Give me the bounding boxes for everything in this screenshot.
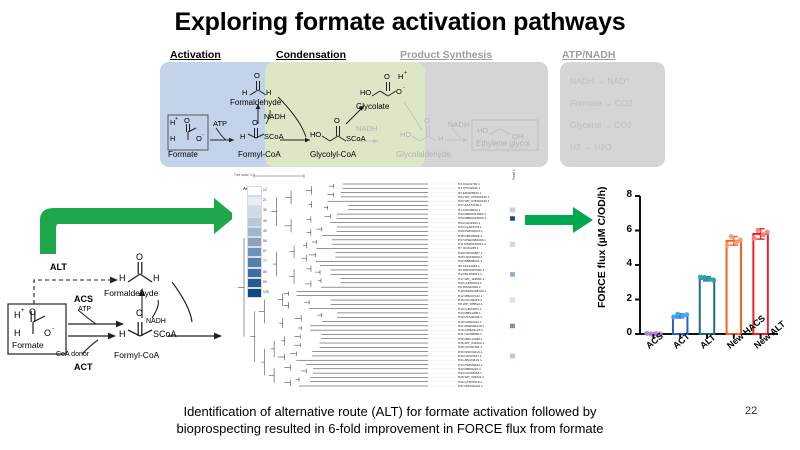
formyl-h: H [240, 132, 245, 141]
formate-o: O [184, 116, 190, 125]
glycolyl-coa-label: Glycolyl-CoA [310, 150, 356, 159]
chart-data-point [738, 237, 743, 242]
chart-bar [700, 279, 714, 334]
mech-formate-label: Formate [12, 340, 44, 350]
section-header-product-synthesis: Product Synthesis [400, 49, 492, 61]
tree-activity-cell [510, 354, 515, 359]
activity-legend-tick: 58 [263, 239, 267, 243]
glycolaldehyde-ho: HO [400, 130, 411, 139]
formate-h: H [170, 134, 175, 143]
glycolate-label: Glycolate [356, 102, 389, 111]
activity-legend-tick: 21 [263, 198, 267, 202]
activity-legend-tick: 95 [263, 280, 267, 284]
activity-legend-tick: 30 [263, 208, 267, 212]
mech-formate-h: H [14, 328, 21, 338]
activity-legend-tick: 77 [263, 259, 267, 263]
atp-reaction-1: Formate → CO2 [570, 98, 632, 108]
formate-ominus: O [196, 134, 202, 143]
activity-legend-swatch: 105 [247, 288, 262, 298]
green-arrow-to-chart [525, 205, 595, 235]
mech-formaldehyde-h-left: H [119, 273, 126, 283]
atp-reaction-3: H2 → H2O [570, 142, 612, 152]
chart-data-point [644, 331, 649, 336]
chart-data-point [684, 312, 689, 317]
activity-legend-swatch: 30 [247, 206, 262, 216]
glycolaldehyde-h: H [438, 134, 443, 143]
formaldehyde-label: Formaldehyde [230, 98, 281, 107]
acs-label: ACS [74, 294, 93, 304]
tree-activity-cell [510, 298, 515, 303]
activity-legend-tick: 49 [263, 229, 267, 233]
tree-scale-label: Tree scale: 0.1 [234, 173, 255, 177]
formyl-o: O [252, 118, 258, 127]
mech-formate-hplus-charge: + [21, 308, 25, 314]
formate-label: Formate [168, 150, 198, 159]
chart-data-point [711, 278, 716, 283]
glycolaldehyde-o: O [424, 116, 430, 125]
activity-legend: 12213040495867778695105 [247, 186, 260, 298]
section-header-activation: Activation [170, 49, 221, 61]
activity-legend-swatch: 12 [247, 186, 262, 196]
mech-formyl-coa-label: Formyl-CoA [114, 350, 159, 360]
activity-legend-tick: 67 [263, 249, 267, 253]
activity-legend-swatch: 21 [247, 196, 262, 206]
chart-y-tick-label: 6 [618, 224, 632, 235]
glycolyl-scoa: SCoA [346, 134, 366, 143]
activity-legend-tick: 105 [263, 290, 269, 294]
alt-label: ALT [50, 262, 67, 272]
formyl-coa-label: Formyl-CoA [238, 150, 281, 159]
mech-formate-o: O [29, 307, 36, 317]
glycolate-ominus: O [396, 87, 402, 96]
mechanism-nadh: NADH [146, 318, 166, 325]
mech-formyl-scoa: SCoA [153, 329, 177, 339]
phylogenetic-tree: H3 KSL01791.1H4 QTV02011.1H2 EDW65524.1H… [232, 172, 522, 394]
chart-y-tick-label: 4 [618, 258, 632, 269]
slide-title: Exploring formate activation pathways [0, 8, 800, 37]
chart-data-point [725, 243, 730, 248]
formaldehyde-h-left: H [242, 88, 247, 97]
force-flux-bar-chart: FORCE flux (µM C/OD/h) 02468ACSACTALTNew… [598, 186, 794, 386]
formaldehyde-o: O [254, 71, 260, 80]
glycolate-ominus-charge: - [403, 85, 405, 91]
section-header-condensation: Condensation [276, 49, 346, 61]
glycolaldehyde-label: Glycolaldehyde [396, 150, 451, 159]
caption-line-2: bioprospecting resulted in 6-fold improv… [60, 420, 720, 437]
ethylene-glycol-label: Ethylene glycol [476, 139, 530, 148]
atp-reaction-2: Glycerol → CO2 [570, 120, 632, 130]
tree-activity-cell [510, 324, 515, 329]
chart-data-point [765, 230, 770, 235]
atp-label: ATP [213, 119, 227, 128]
mech-formaldehyde-label: Formaldehyde [104, 288, 158, 298]
mech-formaldehyde-h-right: H [153, 273, 160, 283]
chart-y-tick-label: 8 [618, 189, 632, 200]
tree-activity-cell [510, 216, 515, 221]
caption-line-1: Identification of alternative route (ALT… [60, 403, 720, 420]
activity-legend-tick: 12 [263, 188, 267, 192]
mech-formate-ominus-charge: - [52, 326, 54, 332]
activity-legend-tick: 86 [263, 270, 267, 274]
section-header-atp-nadh: ATP/NADH [562, 49, 615, 61]
page-number: 22 [745, 405, 757, 417]
glycolate-ho: HO [360, 88, 371, 97]
alt-mechanism-diagram: ALT ACS ATP ACT CoA donor NADH H + O H O… [0, 252, 235, 392]
mech-formyl-h: H [119, 329, 126, 339]
activity-legend-swatch: 67 [247, 247, 262, 257]
activity-legend-tick: 40 [263, 219, 267, 223]
slide-caption: Identification of alternative route (ALT… [60, 403, 720, 437]
chart-data-point [698, 274, 703, 279]
act-cofactor: CoA donor [56, 351, 89, 358]
tree-activity-cell [510, 242, 515, 247]
tree-tip-label: H47 MSG00421.1 [458, 384, 483, 388]
glycolate-hplus: H [398, 72, 403, 81]
product-nadh: NADH [448, 120, 469, 129]
chart-plot-area [598, 186, 794, 386]
formate-hplus-charge: + [175, 116, 178, 122]
chart-data-point [756, 228, 761, 233]
mechanism-bonds [0, 252, 235, 392]
tree-panel-label: Panel 1 [512, 169, 516, 180]
glycolyl-o: O [334, 116, 340, 125]
glycolyl-ho: HO [310, 130, 321, 139]
tree-activity-cell [510, 208, 515, 213]
activity-legend-swatch: 49 [247, 227, 262, 237]
acs-cofactor: ATP [78, 306, 91, 313]
tree-activity-cell [510, 272, 515, 277]
formyl-scoa: SCoA [264, 132, 284, 141]
pathway-diagram: H + O H O - Formate ATP H O SCoA Formyl-… [160, 62, 665, 167]
chart-data-point [752, 236, 757, 241]
glycolate-o: O [384, 72, 390, 81]
formate-ominus-charge: - [202, 132, 204, 138]
activity-legend-swatch: 95 [247, 278, 262, 288]
condensation-nadh: NADH [356, 124, 377, 133]
mech-formate-hplus: H [14, 310, 21, 320]
chart-y-tick-label: 0 [618, 327, 632, 338]
mech-formyl-o: O [136, 308, 143, 318]
chart-data-point [671, 314, 676, 319]
mech-formaldehyde-o: O [136, 252, 143, 262]
chart-bar [727, 241, 741, 334]
ethylene-glycol-ho: HO [477, 126, 488, 135]
chart-data-point [729, 234, 734, 239]
green-elbow-arrow [28, 196, 240, 256]
formaldehyde-h-right: H [266, 88, 271, 97]
act-label: ACT [74, 362, 93, 372]
activity-legend-swatch: 86 [247, 268, 262, 278]
activity-legend-swatch: 77 [247, 257, 262, 267]
atp-reaction-0: NADH → NAD⁺ [570, 76, 630, 87]
chart-y-tick-label: 2 [618, 293, 632, 304]
mech-formate-ominus: O [44, 328, 51, 338]
activity-legend-swatch: 58 [247, 237, 262, 247]
glycolate-hplus-charge: + [404, 70, 407, 76]
activity-legend-swatch: 40 [247, 217, 262, 227]
activation-nadh: NADH [264, 112, 285, 121]
